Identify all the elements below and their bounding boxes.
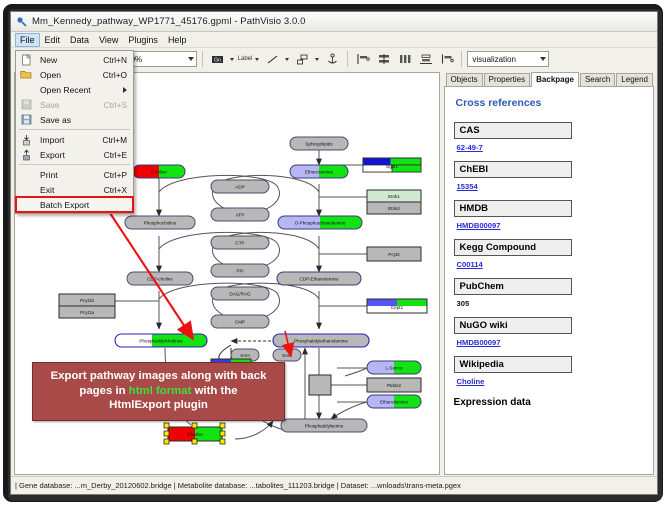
- node-label: Ethanolamine: [305, 170, 334, 175]
- gene-product-icon[interactable]: Gn: [208, 50, 227, 69]
- new-file-icon: [18, 53, 34, 66]
- align-center-icon[interactable]: [374, 50, 393, 69]
- expression-data-heading: Expression data: [454, 397, 644, 408]
- gene-label: Pcyt1b: [80, 298, 94, 303]
- menu-item-shortcut: Ctrl+M: [102, 135, 133, 145]
- menu-edit[interactable]: Edit: [40, 33, 66, 47]
- svg-text:Gn: Gn: [214, 57, 221, 63]
- chevron-down-icon[interactable]: [315, 58, 319, 61]
- node-label: Choline: [151, 170, 167, 175]
- status-text: | Gene database: ...m_Derby_20120602.bri…: [11, 481, 461, 490]
- node-label: Phosphocholine: [144, 221, 177, 226]
- menu-item-shortcut: Ctrl+X: [104, 185, 133, 195]
- callout-line-2a: pages in: [79, 385, 128, 397]
- xref-name: HMDB: [454, 200, 572, 217]
- chevron-down-icon[interactable]: [255, 58, 259, 61]
- gene-product-tool[interactable]: Gn: [208, 50, 236, 69]
- xref-link[interactable]: 62-49-7: [457, 143, 483, 152]
- menu-save: Save Ctrl+S: [16, 97, 133, 112]
- submenu-arrow-icon: [123, 87, 127, 93]
- xref-value[interactable]: 15354: [457, 182, 644, 191]
- xref-link[interactable]: C00114: [457, 260, 483, 269]
- export-icon: [18, 148, 34, 161]
- menu-separator-1: [19, 129, 130, 130]
- menu-item-label: Import: [34, 135, 102, 145]
- backpage-content: Cross references CAS 62-49-7 ChEBI 15354…: [444, 86, 654, 475]
- stack-icon[interactable]: [416, 50, 435, 69]
- gene-label: Pcyt1a: [80, 310, 94, 315]
- menu-item-label: Open Recent: [34, 85, 123, 95]
- chevron-down-icon[interactable]: [230, 58, 234, 61]
- node-label: PPi: [236, 269, 243, 274]
- label-tool-text: Label: [238, 56, 253, 62]
- status-bar: | Gene database: ...m_Derby_20120602.bri…: [11, 476, 657, 494]
- xref-value[interactable]: C00114: [457, 260, 644, 269]
- menu-item-shortcut: Ctrl+P: [104, 170, 133, 180]
- toolbar-separator-4: [461, 51, 462, 67]
- menu-exit[interactable]: Exit Ctrl+X: [16, 182, 133, 197]
- file-menu-dropdown[interactable]: New Ctrl+N Open Ctrl+O Open Recent Save: [15, 50, 134, 214]
- menu-item-label: Batch Export: [34, 200, 127, 210]
- chevron-down-icon[interactable]: [285, 58, 289, 61]
- menu-item-label: Exit: [34, 185, 104, 195]
- callout-line-2b: with the: [191, 385, 237, 397]
- xref-name: CAS: [454, 122, 572, 139]
- node-label: CMP: [235, 320, 245, 325]
- tab-legend[interactable]: Legend: [616, 73, 653, 86]
- node-label: CDP-choline: [147, 277, 173, 282]
- visualization-combo[interactable]: visualization: [467, 51, 549, 67]
- gene-unlabeled-box[interactable]: [309, 375, 331, 395]
- node-label: SAH: [240, 353, 249, 358]
- open-folder-icon: [18, 68, 34, 81]
- menu-item-shortcut: Ctrl+O: [103, 70, 133, 80]
- callout-line-3: HtmlExport plugin: [37, 398, 280, 413]
- import-icon: [18, 133, 34, 146]
- xref-cas: CAS 62-49-7: [454, 122, 644, 152]
- gene-label: Etnk2: [388, 206, 400, 211]
- shape-tool[interactable]: [293, 50, 321, 69]
- right-panel: Objects Properties Backpage Search Legen…: [442, 69, 657, 477]
- node-label: CDP-Ethanolamine: [299, 277, 339, 282]
- node-label: SAM: [282, 353, 292, 358]
- save-as-icon: [18, 113, 34, 126]
- tab-search[interactable]: Search: [580, 73, 615, 86]
- toolbar-separator-3: [347, 51, 348, 67]
- node-label: Choline: [187, 432, 203, 437]
- menu-separator-2: [19, 164, 130, 165]
- blank-icon: [18, 83, 34, 96]
- chevron-down-icon: [540, 57, 546, 61]
- line-icon[interactable]: [263, 50, 282, 69]
- menu-data[interactable]: Data: [65, 33, 94, 47]
- blank-icon: [18, 183, 34, 196]
- xref-name: ChEBI: [454, 161, 572, 178]
- xref-name: Kegg Compound: [454, 239, 572, 256]
- shape-icon[interactable]: [293, 50, 312, 69]
- panel-tabs[interactable]: Objects Properties Backpage Search Legen…: [444, 72, 654, 86]
- callout-line-2: pages in html format with the: [37, 384, 280, 399]
- line-tool[interactable]: [263, 50, 291, 69]
- menu-item-shortcut: Ctrl+N: [103, 55, 133, 65]
- xref-value[interactable]: Choline: [457, 377, 644, 386]
- save-icon: [18, 98, 34, 111]
- menu-item-label: Open: [34, 70, 103, 80]
- xref-name: PubChem: [454, 278, 572, 295]
- node-label: L-Serine: [385, 366, 403, 371]
- label-tool[interactable]: Label: [238, 56, 262, 62]
- menu-item-label: New: [34, 55, 103, 65]
- xref-value[interactable]: HMDB00097: [457, 221, 644, 230]
- menu-file[interactable]: File: [15, 33, 40, 47]
- gene-label: Etnk1: [388, 194, 400, 199]
- gene-label: Cept1: [391, 305, 404, 310]
- menu-open-recent[interactable]: Open Recent: [16, 82, 133, 97]
- xref-value[interactable]: 62-49-7: [457, 143, 644, 152]
- node-label: Phosphatidylserine: [305, 424, 344, 429]
- align-left-icon[interactable]: [353, 50, 372, 69]
- menu-item-label: Save as: [34, 115, 127, 125]
- outer-frame: Mm_Kennedy_pathway_WP1771_45176.gpml - P…: [0, 0, 670, 509]
- node-label: Sphingolipids: [305, 142, 333, 147]
- toolbar-separator-2: [202, 51, 203, 67]
- menu-item-label: Export: [34, 150, 104, 160]
- menu-print[interactable]: Print Ctrl+P: [16, 167, 133, 182]
- xref-kegg-compound: Kegg Compound C00114: [454, 239, 644, 269]
- window-title: Mm_Kennedy_pathway_WP1771_45176.gpml - P…: [32, 16, 306, 27]
- xref-value: 305: [457, 299, 644, 308]
- tab-objects[interactable]: Objects: [446, 73, 483, 86]
- xref-hmdb: HMDB HMDB00097: [454, 200, 644, 230]
- node-label: CTP: [235, 241, 244, 246]
- xref-link[interactable]: HMDB00097: [457, 338, 501, 347]
- pathvisio-window: Mm_Kennedy_pathway_WP1771_45176.gpml - P…: [10, 11, 658, 495]
- menu-save-as[interactable]: Save as: [16, 112, 133, 127]
- group-icon[interactable]: [437, 50, 456, 69]
- menu-view[interactable]: View: [94, 33, 123, 47]
- visualization-value: visualization: [472, 55, 516, 64]
- chevron-down-icon: [188, 57, 194, 61]
- xref-link[interactable]: Choline: [457, 377, 485, 386]
- menu-export[interactable]: Export Ctrl+E: [16, 147, 133, 162]
- node-label: Ethanolamine: [380, 400, 409, 405]
- title-bar: Mm_Kennedy_pathway_WP1771_45176.gpml - P…: [11, 12, 657, 32]
- xref-name: Wikipedia: [454, 356, 572, 373]
- node-label: Phosphatidylcholines: [139, 339, 183, 344]
- anchor-icon[interactable]: [323, 50, 342, 69]
- menu-item-label: Save: [34, 100, 104, 110]
- xref-link[interactable]: 15354: [457, 182, 478, 191]
- xref-nugo-wiki: NuGO wiki HMDB00097: [454, 317, 644, 347]
- node-label: DAG/RAG: [229, 292, 251, 297]
- gene-label: Pcyt2: [388, 252, 400, 257]
- gene-label: Ptdss2: [387, 383, 401, 388]
- menu-import[interactable]: Import Ctrl+M: [16, 132, 133, 147]
- node-label: ADP: [235, 185, 244, 190]
- tab-backpage[interactable]: Backpage: [531, 72, 579, 87]
- xref-name: NuGO wiki: [454, 317, 572, 334]
- menu-open[interactable]: Open Ctrl+O: [16, 67, 133, 82]
- distribute-icon[interactable]: [395, 50, 414, 69]
- menu-item-shortcut: Ctrl+S: [104, 100, 133, 110]
- menu-batch-export[interactable]: Batch Export: [16, 197, 133, 212]
- xref-wikipedia: Wikipedia Choline: [454, 356, 644, 386]
- menu-help[interactable]: Help: [163, 33, 192, 47]
- node-label: O-Phosphoethanolamine: [295, 221, 346, 226]
- xref-link[interactable]: HMDB00097: [457, 221, 501, 230]
- gene-label: Sgpl1: [386, 164, 398, 169]
- xref-pubchem: PubChem 305: [454, 278, 644, 308]
- xref-value[interactable]: HMDB00097: [457, 338, 644, 347]
- node-label: ATP: [236, 213, 245, 218]
- menu-item-label: Print: [34, 170, 104, 180]
- callout-line-1: Export pathway images along with back: [37, 369, 280, 384]
- xref-chebi: ChEBI 15354: [454, 161, 644, 191]
- menu-new[interactable]: New Ctrl+N: [16, 52, 133, 67]
- menu-plugins[interactable]: Plugins: [123, 33, 163, 47]
- blank-icon: [18, 198, 34, 211]
- cross-references-heading: Cross references: [456, 97, 644, 109]
- blank-icon: [18, 168, 34, 181]
- annotation-callout: Export pathway images along with back pa…: [32, 362, 285, 421]
- pathvisio-app-icon: [16, 16, 27, 27]
- menu-item-shortcut: Ctrl+E: [104, 150, 133, 160]
- callout-highlight: html format: [129, 385, 192, 397]
- menu-bar[interactable]: File Edit Data View Plugins Help: [11, 32, 657, 48]
- tab-properties[interactable]: Properties: [484, 73, 530, 86]
- node-label: Phosphatidylethanolamine: [294, 339, 348, 344]
